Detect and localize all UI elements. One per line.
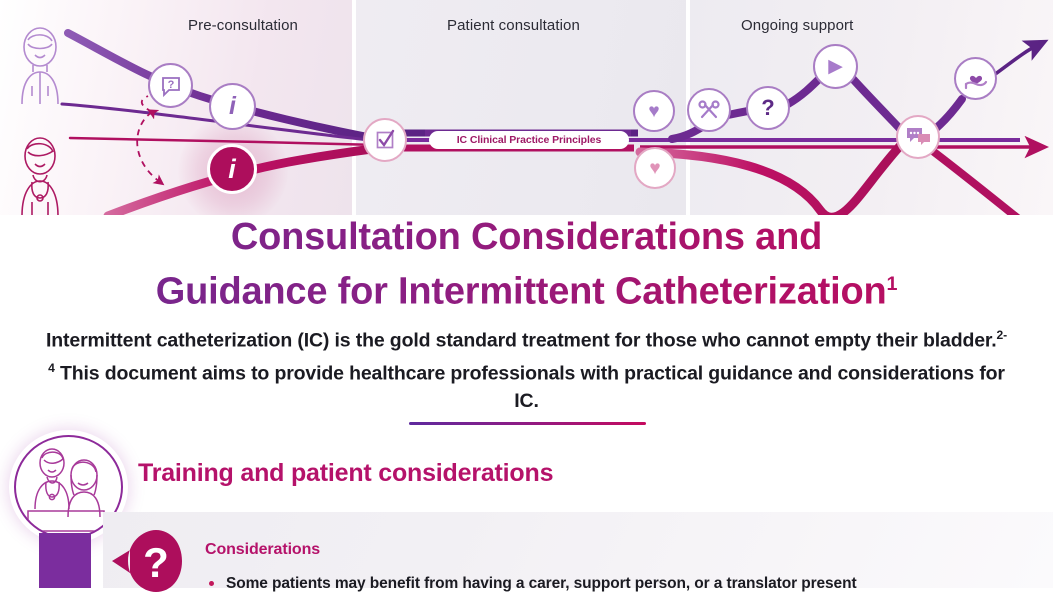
page-title: Consultation Considerations and Guidance… [0, 214, 1053, 316]
considerations-subheading: Considerations [205, 541, 320, 559]
patient-avatar-purple [8, 24, 72, 104]
play-glyph: ▶ [828, 57, 843, 76]
ic-clinical-practice-principles-text: IC Clinical Practice Principles [457, 134, 602, 146]
question-mark-icon[interactable]: ? [746, 86, 790, 130]
hand-heart-icon[interactable] [954, 57, 997, 100]
information-glyph: i [229, 94, 236, 119]
patient-journey-banner: Pre-consultation Patient consultation On… [0, 0, 1053, 215]
gradient-divider [409, 422, 646, 425]
heart-pink-glyph: ♥ [649, 159, 660, 178]
title-block: Consultation Considerations and Guidance… [0, 214, 1053, 316]
checklist-icon[interactable] [363, 118, 407, 162]
page-title-superscript: 1 [886, 273, 897, 295]
heart-glyph: ♥ [648, 102, 659, 121]
page-title-line-2: Guidance for Intermittent Catheterizatio… [156, 271, 887, 313]
chat-bubbles-icon[interactable] [896, 115, 940, 159]
considerations-bullet-list: Some patients may benefit from having a … [205, 573, 1035, 594]
chat-bubbles-glyph [906, 126, 931, 148]
two-people-glyph [16, 437, 116, 532]
question-speech-bubble-badge: ? [110, 525, 184, 597]
svg-text:?: ? [167, 79, 174, 91]
play-icon[interactable]: ▶ [813, 44, 858, 89]
tools-icon[interactable] [687, 88, 731, 132]
page-title-line-1: Consultation Considerations and [231, 216, 822, 258]
list-item: Some patients may benefit from having a … [205, 573, 1035, 594]
question-mark-glyph: ? [143, 539, 169, 586]
journey-flow-lines [0, 0, 1053, 215]
heart-pink-icon[interactable]: ♥ [634, 147, 676, 189]
question-speech-bubble-glyph: ? [159, 74, 183, 98]
information-highlight-glyph: i [228, 156, 236, 183]
information-icon[interactable]: i [209, 83, 256, 130]
subtitle-part-2: This document aims to provide healthcare… [55, 363, 1005, 413]
hand-heart-glyph [964, 68, 988, 90]
section-accent-bar [39, 533, 91, 588]
tools-glyph [697, 98, 721, 122]
checklist-glyph [374, 129, 396, 151]
information-highlight-icon[interactable]: i [207, 144, 257, 194]
subtitle-block: Intermittent catheterization (IC) is the… [0, 322, 1053, 416]
heart-icon[interactable]: ♥ [633, 90, 675, 132]
section-heading: Training and patient considerations [138, 459, 553, 488]
question-speech-bubble-icon[interactable]: ? [148, 63, 193, 108]
subtitle-part-1: Intermittent catheterization (IC) is the… [46, 330, 997, 352]
subtitle-text: Intermittent catheterization (IC) is the… [45, 322, 1008, 416]
ic-clinical-practice-principles-label: IC Clinical Practice Principles [429, 131, 629, 149]
clinician-avatar-magenta [8, 134, 72, 215]
question-mark-glyph: ? [761, 97, 774, 119]
